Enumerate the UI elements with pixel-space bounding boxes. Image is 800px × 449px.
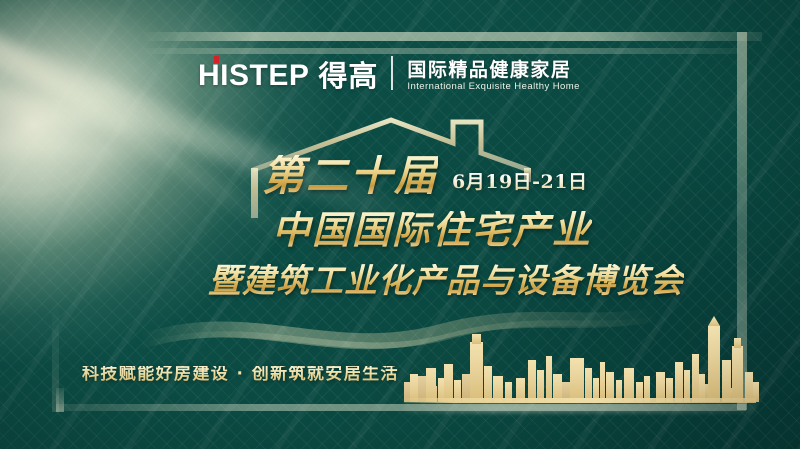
- poster-tagline: 科技赋能好房建设 · 创新筑就安居生活: [82, 366, 399, 383]
- edition-title: 第二十届: [262, 155, 438, 197]
- skyline-ground-shadow: [404, 403, 756, 413]
- headline-line-2: 中国国际住宅产业: [272, 211, 592, 249]
- skyline-ground-line: [404, 398, 756, 403]
- event-poster: HISTEP 得高 国际精品健康家居 International Exquisi…: [0, 0, 800, 449]
- brand-tagline-cn: 国际精品健康家居: [407, 61, 580, 80]
- brand-name-en: HISTEP: [198, 61, 309, 91]
- brand-name-cn: 得高: [318, 62, 378, 91]
- brand-tagline-group: 国际精品健康家居 International Exquisite Healthy…: [407, 61, 580, 92]
- brand-tagline-en: International Exquisite Healthy Home: [407, 82, 580, 92]
- headline-line-3: 暨建筑工业化产品与设备博览会: [208, 264, 684, 297]
- brand-name-en-text: HISTEP: [198, 59, 309, 92]
- brand-divider: [391, 56, 393, 90]
- headline-line-1: 第二十届 6月19日-21日: [262, 155, 588, 197]
- event-date: 6月19日-21日: [452, 173, 588, 192]
- red-dot-icon: [214, 56, 219, 63]
- brand-lockup: HISTEP 得高 国际精品健康家居 International Exquisi…: [198, 56, 580, 91]
